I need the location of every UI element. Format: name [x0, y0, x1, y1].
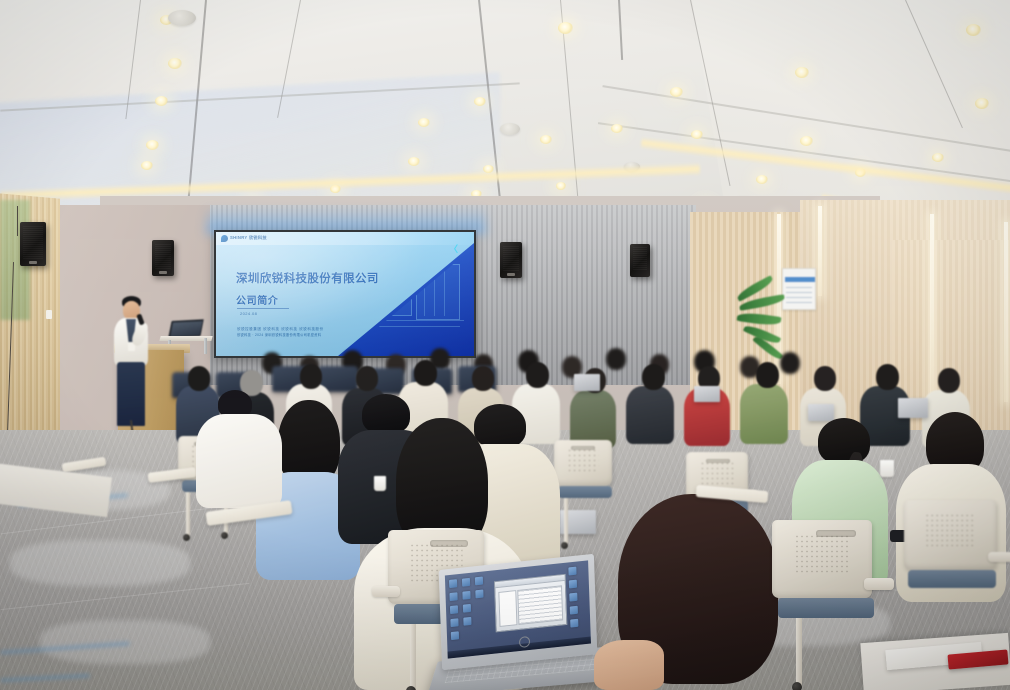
presenter-trousers	[117, 362, 145, 426]
ceiling-downlight	[558, 22, 573, 34]
audience-laptop	[574, 374, 600, 391]
laptop-screen[interactable]	[445, 560, 591, 658]
speaker-brand-mark	[159, 271, 167, 274]
desktop-icon[interactable]	[570, 619, 578, 628]
audience-head	[356, 366, 378, 391]
chair-seat	[778, 598, 874, 618]
slide-footer-line-2: 欣锐科技 · 2024 深圳欣锐科技股份有限公司机密资料	[237, 332, 321, 337]
slide-date: 2024.08	[240, 311, 257, 316]
audience-head	[814, 366, 836, 391]
ceiling-downlight	[611, 124, 623, 133]
desktop-icon[interactable]	[569, 593, 577, 602]
user-hand	[594, 640, 664, 690]
person-shirt-white	[196, 414, 282, 508]
chair-handle	[816, 530, 856, 537]
desktop-icon[interactable]	[475, 576, 483, 585]
palm-leaf	[737, 311, 782, 327]
ceiling-downlight	[756, 175, 768, 184]
audience-head	[188, 366, 210, 391]
audience-head	[300, 364, 322, 389]
window-data-grid[interactable]	[517, 585, 563, 625]
training-chair-far-right[interactable]	[904, 500, 1010, 650]
podium-laptop-screen	[170, 321, 202, 336]
laptop-lid	[439, 554, 598, 670]
paper-cup	[374, 476, 386, 491]
gfx-line	[444, 266, 445, 316]
gfx-block	[388, 264, 397, 278]
chair-armrest	[988, 552, 1010, 562]
chair-back	[904, 500, 996, 570]
chair-handle	[571, 446, 595, 450]
slide-subtitle: 公司简介	[236, 292, 278, 307]
desktop-icon[interactable]	[449, 592, 457, 601]
ceiling-downlight	[795, 67, 809, 78]
ceiling-downlight	[418, 118, 430, 127]
chair-caster	[221, 532, 228, 539]
desktop-icon[interactable]	[569, 580, 577, 589]
logo-wordmark: SHINRY 欣锐科技	[230, 235, 267, 241]
ceiling-downlight	[474, 97, 486, 106]
audience-head	[472, 366, 494, 391]
speaker-grille	[155, 243, 171, 269]
light-switch[interactable]	[46, 310, 52, 319]
conference-room-photo: SHINRY 欣锐科技 〈 深圳欣锐科技股份有限公司 公司简介 2024.08 …	[0, 0, 1010, 690]
speaker-grille	[633, 247, 647, 270]
audience-laptop	[694, 386, 720, 402]
desktop-icon[interactable]	[462, 591, 470, 600]
audience-head	[642, 364, 665, 390]
smoke-detector-icon	[168, 10, 196, 26]
desktop-icon[interactable]	[451, 631, 459, 640]
wall-speaker-left	[20, 222, 46, 266]
chair-handle	[430, 540, 468, 547]
desktop-icon[interactable]	[450, 618, 458, 627]
audience-head	[938, 368, 960, 393]
desktop-icon[interactable]	[462, 578, 470, 587]
audience-head	[526, 362, 549, 388]
desktop-icon[interactable]	[570, 606, 578, 615]
gfx-block	[416, 264, 460, 320]
ceiling-downlight	[975, 98, 989, 109]
gfx-line	[434, 266, 435, 316]
gfx-block	[374, 276, 412, 316]
speaker-cable	[17, 206, 18, 236]
chair-armrest	[864, 578, 894, 590]
gfx-line	[424, 266, 425, 316]
wall-speaker-right	[630, 244, 650, 277]
chair-leg	[796, 618, 802, 686]
chair-caster	[183, 534, 190, 541]
presenter	[110, 296, 156, 436]
gfx-line	[374, 320, 464, 321]
ceiling-downlight	[800, 136, 813, 146]
speaker-brand-mark	[507, 273, 515, 276]
speaker-grille	[23, 225, 43, 259]
desktop-icon[interactable]	[475, 590, 483, 599]
chair-armrest	[372, 586, 400, 597]
audience-torso	[740, 384, 788, 444]
desktop-icon[interactable]	[568, 567, 576, 576]
droplet-logo-icon	[221, 235, 228, 242]
wall-speaker-center-right	[500, 242, 522, 278]
ceiling-downlight	[155, 96, 168, 106]
chair-seat	[908, 570, 996, 588]
projection-screen: SHINRY 欣锐科技 〈 深圳欣锐科技股份有限公司 公司简介 2024.08 …	[214, 230, 476, 358]
slide-title: 深圳欣锐科技股份有限公司	[236, 270, 379, 286]
ceiling-downlight	[691, 130, 703, 139]
desktop-icon[interactable]	[449, 579, 457, 588]
chair-caster	[406, 686, 416, 690]
ceiling-downlight	[408, 157, 420, 166]
carpet-pattern	[10, 540, 190, 586]
open-application-window[interactable]	[494, 574, 567, 633]
speaker-grille	[503, 245, 519, 271]
window-tree-pane[interactable]	[498, 590, 517, 627]
ceiling-downlight	[670, 87, 683, 97]
ceiling-downlight	[168, 58, 182, 69]
chair-leg	[186, 492, 190, 536]
smoke-detector-icon	[500, 123, 520, 135]
audience-person-white-tee	[196, 390, 288, 510]
desktop-icon[interactable]	[450, 605, 458, 614]
slide-divider	[237, 308, 289, 309]
chair-caster	[792, 682, 802, 690]
desktop-icon[interactable]	[463, 604, 471, 613]
ceiling-downlight	[966, 24, 981, 36]
presentation-slide: SHINRY 欣锐科技 〈 深圳欣锐科技股份有限公司 公司简介 2024.08 …	[216, 232, 474, 356]
speaker-brand-mark	[29, 261, 37, 264]
gfx-line	[374, 326, 460, 327]
ceiling-downlight	[932, 153, 944, 162]
slide-corner-accent: 〈	[449, 245, 465, 254]
chair-handle	[706, 459, 730, 463]
audience-torso	[626, 386, 674, 444]
audience-head	[414, 360, 437, 386]
slide-footer-line-1: 欣锐控股集团 欣锐科技 欣锐科技 欣锐科技股份	[237, 326, 324, 331]
wall-led-strip	[818, 206, 822, 296]
ceiling-downlight	[146, 140, 159, 150]
ceiling-downlight	[540, 135, 552, 144]
desktop-icon[interactable]	[463, 617, 471, 626]
paper-cup	[880, 460, 894, 477]
gfx-block	[400, 262, 409, 278]
audience-head	[876, 364, 899, 390]
company-logo: SHINRY 欣锐科技	[221, 235, 267, 242]
ceiling-downlight	[556, 182, 566, 190]
wall-speaker-center-left	[152, 240, 174, 276]
audience-head	[756, 362, 779, 388]
ceiling-downlight	[141, 161, 153, 170]
chair-leg	[410, 624, 416, 690]
